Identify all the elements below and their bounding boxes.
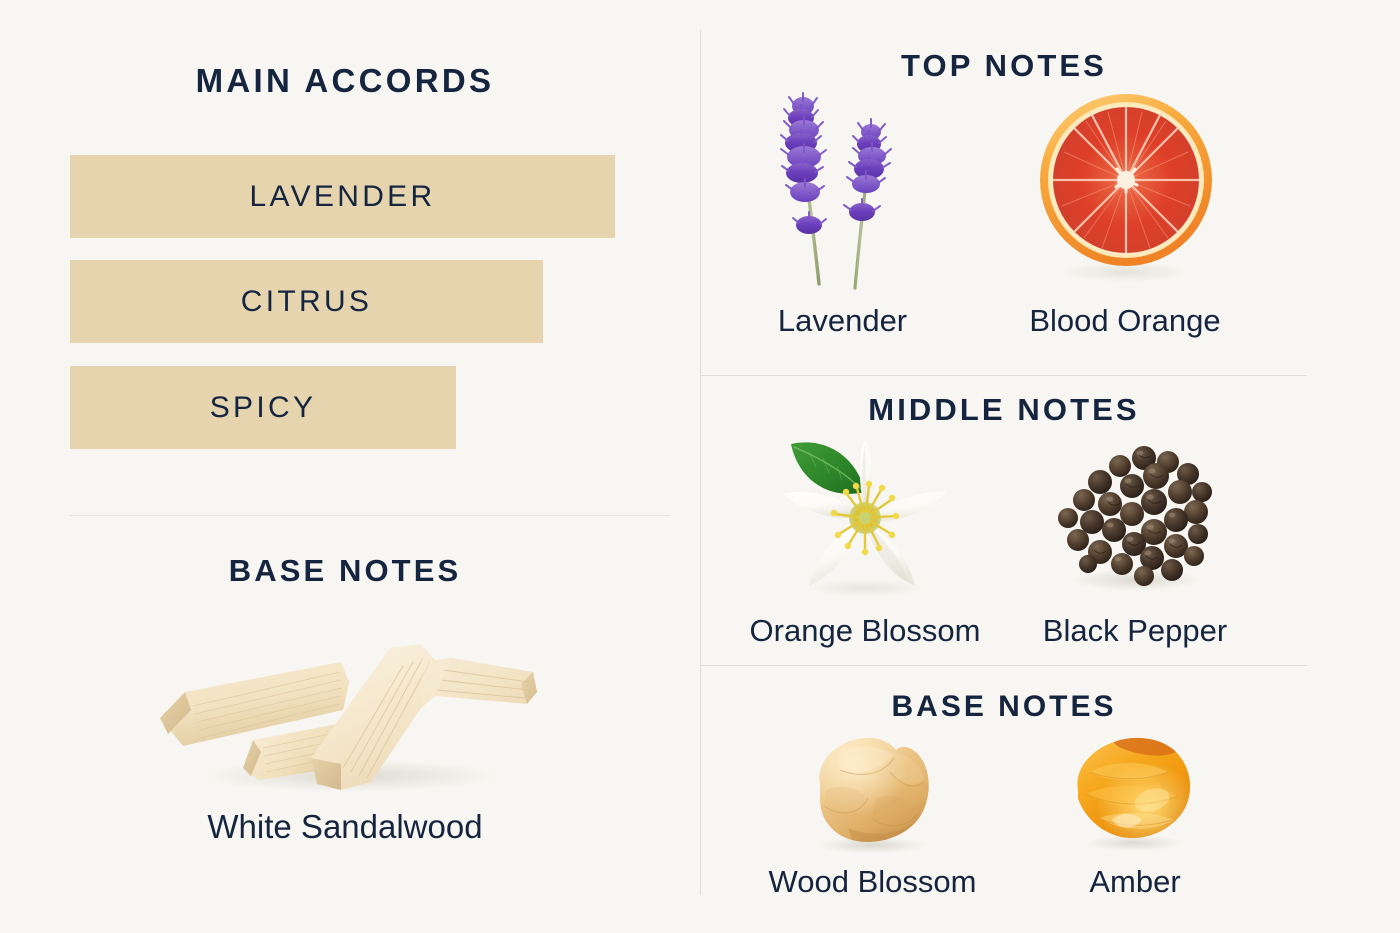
vertical-divider xyxy=(700,30,701,895)
note-label: White Sandalwood xyxy=(60,810,630,843)
note-item-blood-orange: Blood Orange xyxy=(980,88,1270,336)
right-base-notes-heading: BASE NOTES xyxy=(701,690,1307,724)
accord-bar-citrus: CITRUS xyxy=(70,260,543,343)
black-peppercorns-icon xyxy=(1005,430,1265,605)
note-label: Blood Orange xyxy=(980,305,1270,336)
top-notes-heading: TOP NOTES xyxy=(701,48,1307,84)
wood-resin-stone-icon xyxy=(735,728,1010,858)
fragrance-notes-infographic: MAIN ACCORDS LAVENDER CITRUS SPICY BASE … xyxy=(0,0,1400,933)
sandalwood-sticks-icon xyxy=(60,600,630,800)
amber-stone-icon xyxy=(1020,728,1250,858)
accord-bar-label: SPICY xyxy=(210,391,317,425)
note-label: Orange Blossom xyxy=(720,615,1010,646)
note-item-amber: Amber xyxy=(1020,728,1250,897)
note-label: Lavender xyxy=(735,305,950,336)
lavender-sprig-icon xyxy=(735,88,950,293)
main-accords-heading: MAIN ACCORDS xyxy=(0,62,690,100)
accord-bar-lavender: LAVENDER xyxy=(70,155,615,238)
orange-blossom-flower-icon xyxy=(720,430,1010,605)
accord-bar-label: CITRUS xyxy=(241,285,372,319)
accord-bar-label: LAVENDER xyxy=(250,180,436,214)
right-panel-divider-middle xyxy=(701,665,1307,666)
note-label: Wood Blossom xyxy=(735,866,1010,897)
middle-notes-heading: MIDDLE NOTES xyxy=(701,392,1307,428)
note-item-orange-blossom: Orange Blossom xyxy=(720,430,1010,646)
note-item-wood-blossom: Wood Blossom xyxy=(735,728,1010,897)
note-item-black-pepper: Black Pepper xyxy=(1005,430,1265,646)
note-item-lavender: Lavender xyxy=(735,88,950,336)
right-panel-divider-top xyxy=(701,375,1307,376)
accord-bar-spicy: SPICY xyxy=(70,366,456,449)
left-base-notes-heading: BASE NOTES xyxy=(0,553,690,589)
note-label: Black Pepper xyxy=(1005,615,1265,646)
left-panel-divider xyxy=(70,515,670,516)
blood-orange-slice-icon xyxy=(980,88,1270,293)
note-item-white-sandalwood: White Sandalwood xyxy=(60,600,630,843)
note-label: Amber xyxy=(1020,866,1250,897)
